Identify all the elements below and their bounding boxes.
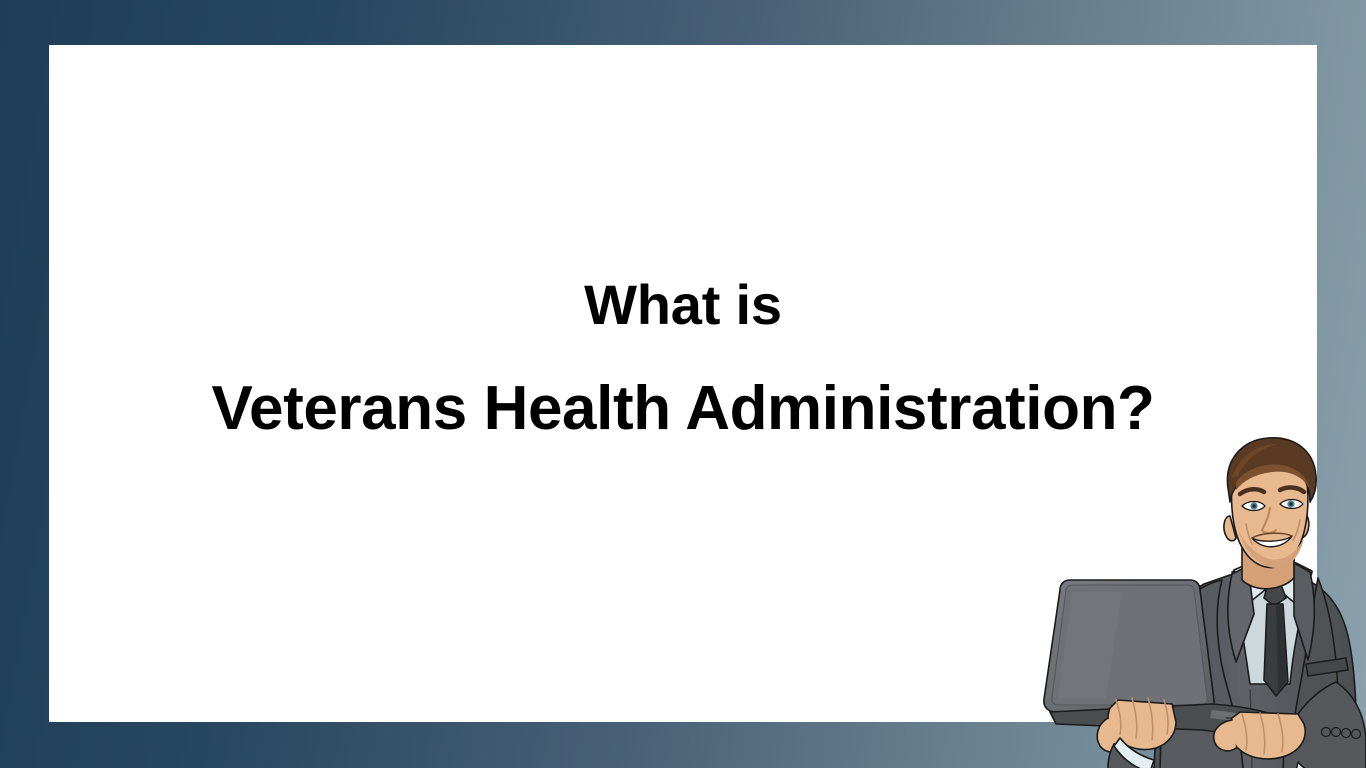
slide-canvas: What is Veterans Health Administration? xyxy=(0,0,1366,768)
businessman-with-laptop-illustration xyxy=(1036,432,1366,768)
